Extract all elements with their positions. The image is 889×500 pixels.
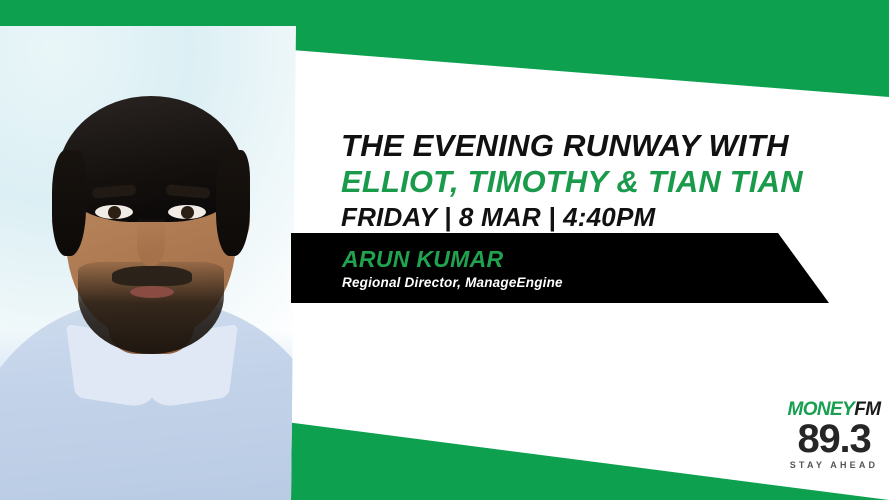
station-tagline: STAY AHEAD <box>782 461 886 470</box>
guest-portrait-photo <box>0 0 300 500</box>
show-schedule-line: FRIDAY | 8 MAR | 4:40PM <box>341 204 861 231</box>
guest-role: Regional Director, ManageEngine <box>342 275 563 290</box>
subject-eye-left <box>95 205 133 219</box>
subject-nose <box>137 218 165 266</box>
subject-pupil-left <box>108 206 121 219</box>
radio-show-promo-graphic: THE EVENING RUNWAY WITH ELLIOT, TIMOTHY … <box>0 0 889 500</box>
subject-hair-side-right <box>216 150 250 256</box>
station-frequency: 89.3 <box>782 420 886 458</box>
guest-name-text-group: ARUN KUMAR Regional Director, ManageEngi… <box>342 246 563 290</box>
subject-mouth <box>130 286 174 298</box>
guest-name: ARUN KUMAR <box>342 246 563 273</box>
subject-mustache <box>112 266 192 286</box>
show-hosts-line: ELLIOT, TIMOTHY & TIAN TIAN <box>341 167 869 199</box>
station-logo: MONEYFM 89.3 STAY AHEAD <box>782 400 886 470</box>
guest-name-banner: ARUN KUMAR Regional Director, ManageEngi… <box>291 233 831 303</box>
portrait-subject <box>0 0 300 500</box>
show-title-block: THE EVENING RUNWAY WITH ELLIOT, TIMOTHY … <box>341 131 861 231</box>
subject-eye-right <box>168 205 206 219</box>
show-title-line: THE EVENING RUNWAY WITH <box>341 131 871 163</box>
subject-pupil-right <box>181 206 194 219</box>
subject-hair-side-left <box>52 150 86 256</box>
